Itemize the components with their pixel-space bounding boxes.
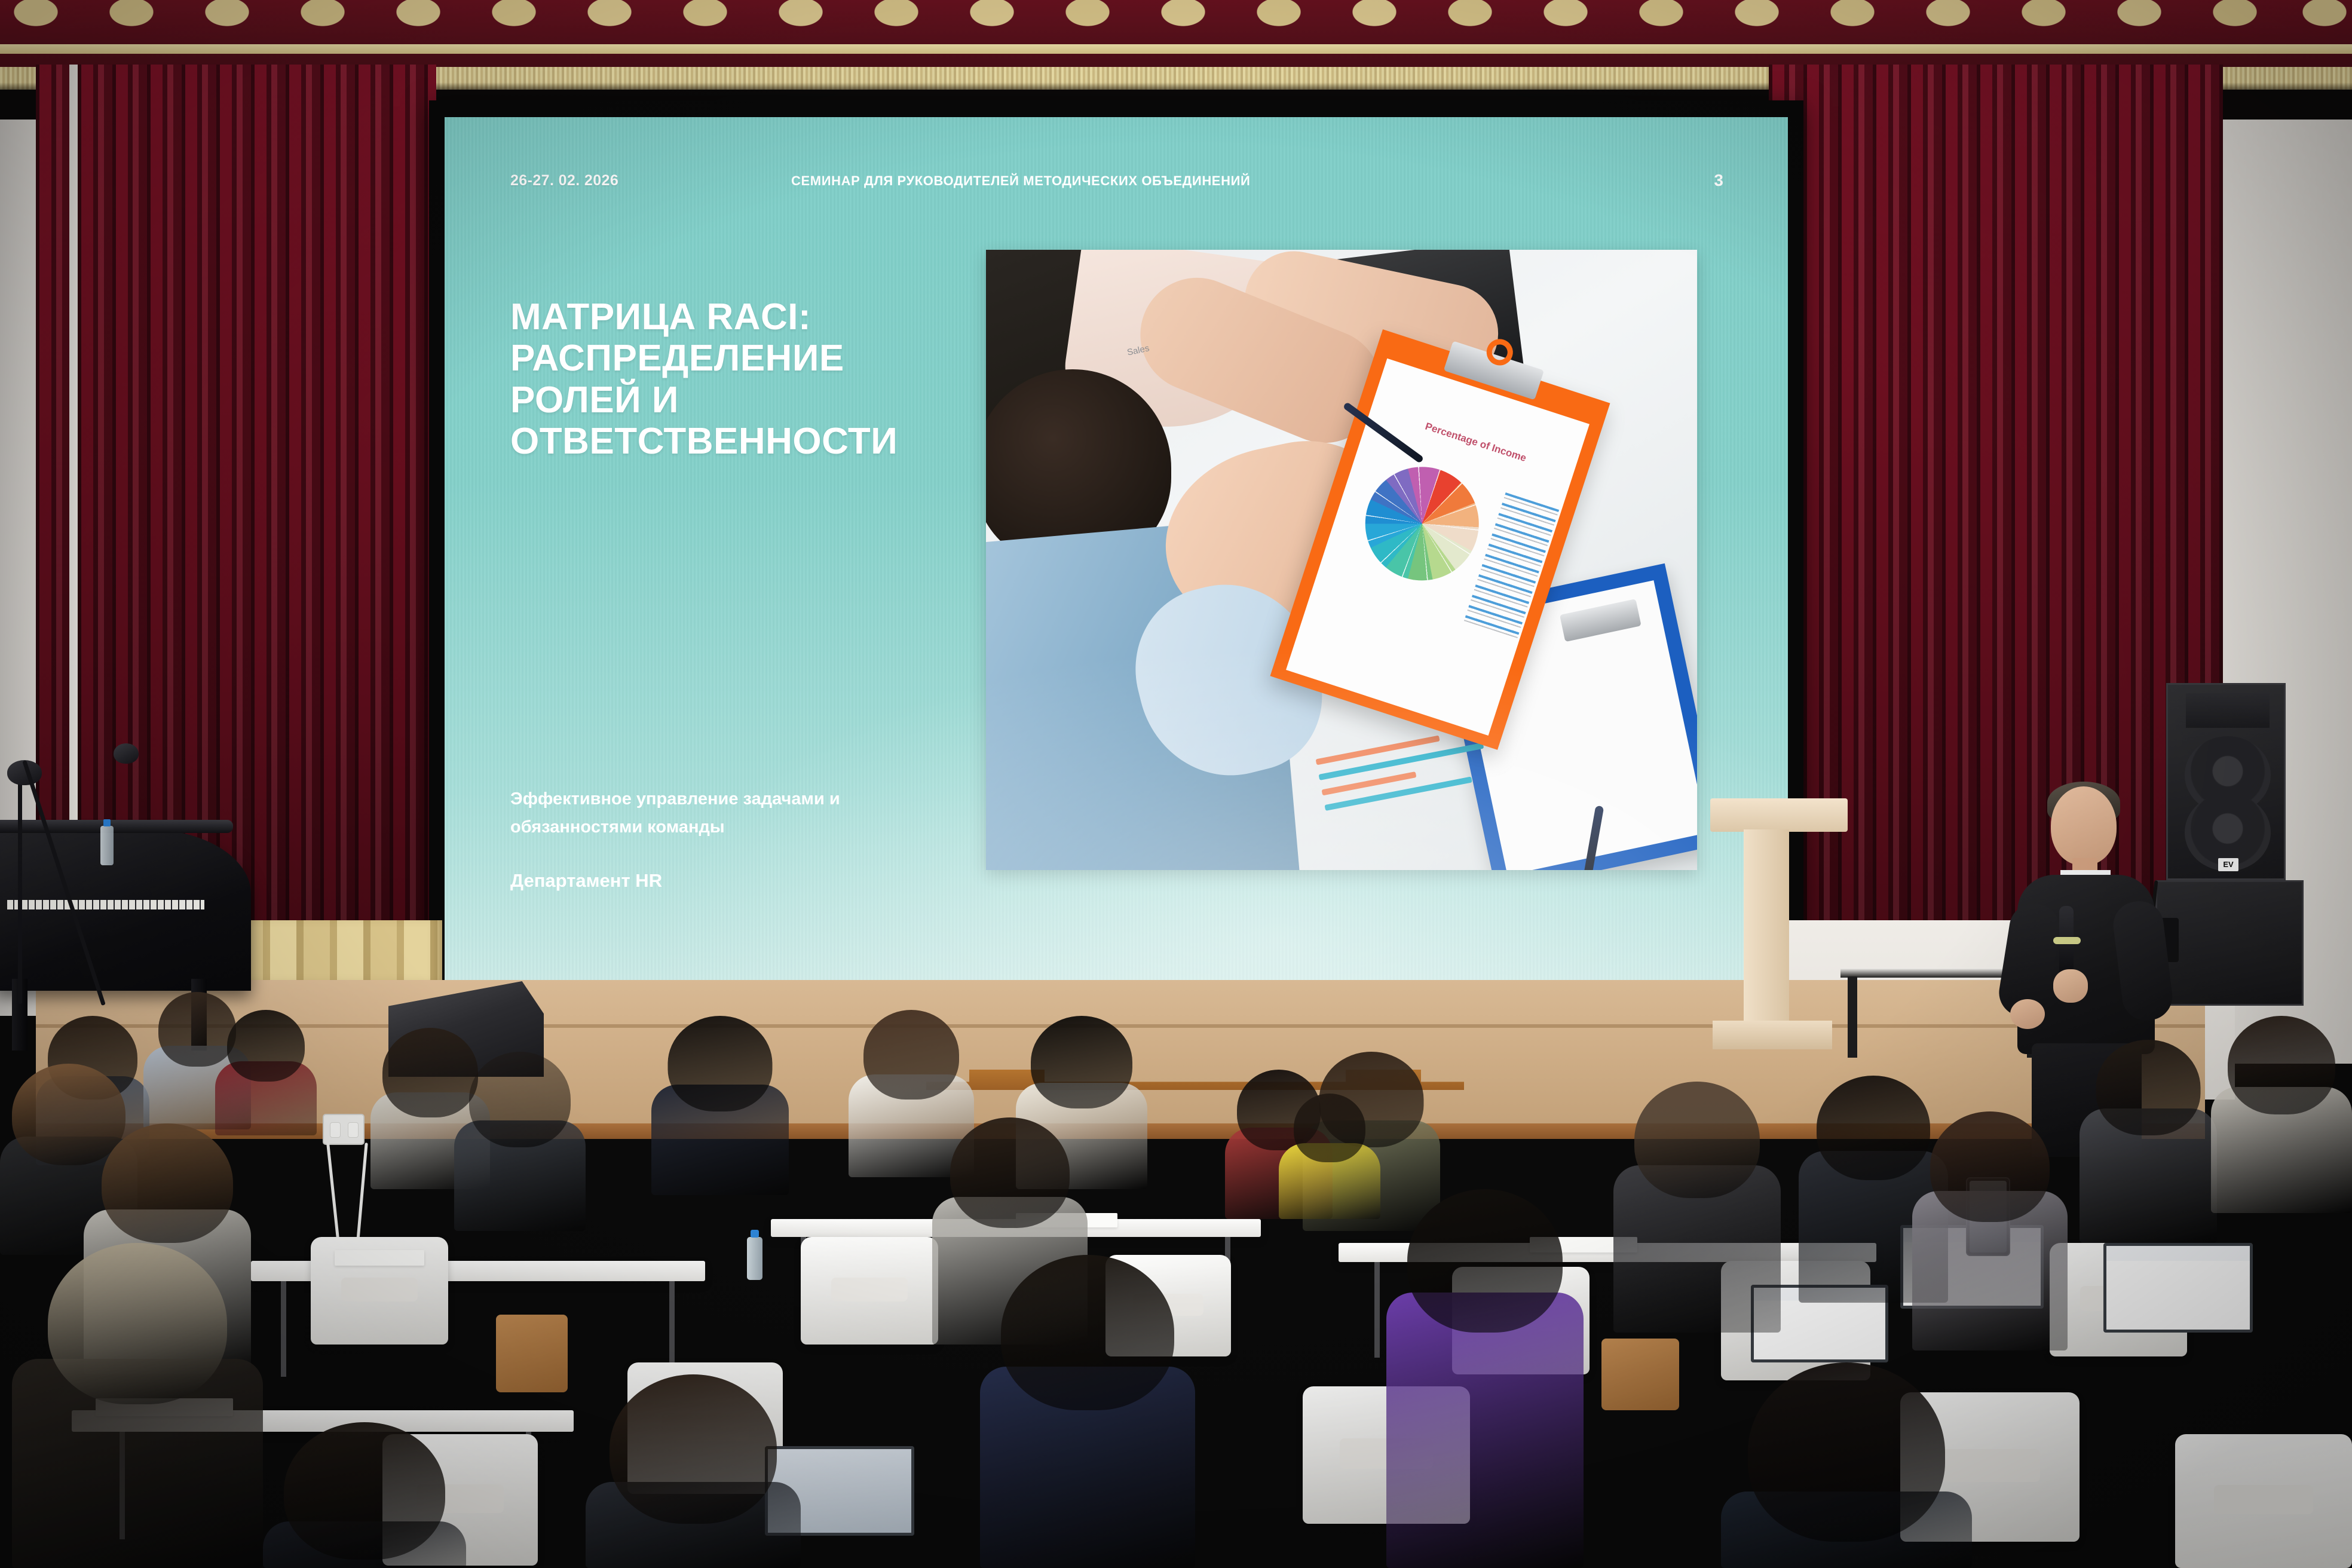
valance-ornament xyxy=(0,0,2352,48)
paper-sheet xyxy=(335,1250,424,1266)
attendee-13 xyxy=(980,1255,1195,1568)
attendee-24-head xyxy=(610,1374,777,1524)
attendee-9-head xyxy=(668,1016,773,1111)
attendee-25-head xyxy=(284,1422,445,1560)
microphone-band xyxy=(2053,937,2081,944)
attendee-13-head xyxy=(1001,1255,1174,1410)
attendee-11-head xyxy=(1031,1016,1132,1108)
presentation-slide: 26-27. 02. 2026 СЕМИНАР ДЛЯ РУКОВОДИТЕЛЕ… xyxy=(445,117,1788,982)
water-bottle-on-piano xyxy=(100,826,114,865)
slide-title-line-2: РАСПРЕДЕЛЕНИЕ xyxy=(510,338,964,379)
attendee-8-head xyxy=(469,1052,571,1147)
slide-header: 26-27. 02. 2026 СЕМИНАР ДЛЯ РУКОВОДИТЕЛЕ… xyxy=(510,172,1723,192)
attendee-24 xyxy=(586,1374,801,1568)
slide-photo-meeting: Sales Percentage of Income xyxy=(986,250,1697,870)
attendee-20 xyxy=(1912,1111,2068,1350)
attendee-17 xyxy=(1386,1189,1584,1568)
slide-title-line-4: ОТВЕТСТВЕННОСТИ xyxy=(510,421,964,462)
pa-speaker-stack: EV xyxy=(2166,683,2304,988)
chair[interactable] xyxy=(2175,1434,2352,1568)
attendee-8 xyxy=(454,1052,586,1231)
slide-subtitle: Эффективное управление задачами и обязан… xyxy=(510,785,929,841)
microphone-head-boom xyxy=(114,743,139,764)
attendee-21-head xyxy=(2096,1040,2201,1135)
attendee-22 xyxy=(2211,1016,2352,1213)
microphone-stand-left xyxy=(18,771,22,1004)
chair[interactable] xyxy=(801,1237,938,1345)
presenter-head xyxy=(2051,786,2117,865)
attendee-18-head xyxy=(1634,1082,1760,1198)
slide-subtitle-line-1: Эффективное управление задачами и xyxy=(510,785,929,813)
valance-band xyxy=(0,44,2352,54)
attendee-23 xyxy=(1721,1362,1972,1568)
lectern-top xyxy=(1710,798,1848,832)
piano-keys xyxy=(7,900,204,909)
ev-logo: EV xyxy=(2218,858,2238,871)
slide-department: Департамент HR xyxy=(510,870,662,892)
attendee-18 xyxy=(1613,1082,1781,1333)
attendee-4-head xyxy=(227,1010,305,1082)
attendee-10-head xyxy=(863,1010,959,1100)
attendee-25 xyxy=(263,1422,466,1568)
attendee-12-head xyxy=(950,1117,1070,1228)
attendee-5-head xyxy=(102,1123,233,1243)
slide-date: 26-27. 02. 2026 xyxy=(510,172,618,189)
laptop[interactable] xyxy=(2103,1243,2253,1333)
grand-piano xyxy=(0,829,251,991)
handbag xyxy=(496,1315,568,1392)
attendee-6 xyxy=(12,1243,263,1568)
slide-title-line-3: РОЛЕЙ И xyxy=(510,379,964,421)
piano-lid xyxy=(0,820,233,833)
attendee-22-head xyxy=(2228,1016,2335,1114)
attendee-21 xyxy=(2080,1040,2217,1243)
slide-title-line-1: МАТРИЦА RACI: xyxy=(510,296,964,338)
attendee-6-head xyxy=(48,1243,227,1404)
water-bottle xyxy=(747,1237,762,1280)
slide-subtitle-line-2: обязанностями команды xyxy=(510,813,929,841)
attendee-20-head xyxy=(1930,1111,2050,1222)
auditorium-scene: 26-27. 02. 2026 СЕМИНАР ДЛЯ РУКОВОДИТЕЛЕ… xyxy=(0,0,2352,1568)
stage-valance xyxy=(0,0,2352,71)
attendee-4 xyxy=(215,1010,317,1135)
attendee-9 xyxy=(651,1016,789,1195)
photo-pie-chart xyxy=(1350,452,1493,595)
attendee-16-head xyxy=(1294,1094,1365,1162)
slide-page-number: 3 xyxy=(1714,171,1723,190)
attendee-17-head xyxy=(1407,1189,1563,1333)
attendee-23-head xyxy=(1748,1362,1945,1542)
pa-horn xyxy=(2186,693,2270,728)
attendee-17-body xyxy=(1386,1293,1584,1568)
slide-title: МАТРИЦА RACI: РАСПРЕДЕЛЕНИЕ РОЛЕЙ И ОТВЕ… xyxy=(510,296,964,463)
slide-event-title: СЕМИНАР ДЛЯ РУКОВОДИТЕЛЕЙ МЕТОДИЧЕСКИХ О… xyxy=(791,173,1250,189)
photo-chart-title: Percentage of Income xyxy=(1423,421,1527,465)
floor-power-outlet[interactable] xyxy=(323,1114,365,1145)
pa-speaker-top: EV xyxy=(2166,683,2286,880)
attendee-16 xyxy=(1279,1094,1380,1219)
handbag xyxy=(1601,1339,1679,1410)
